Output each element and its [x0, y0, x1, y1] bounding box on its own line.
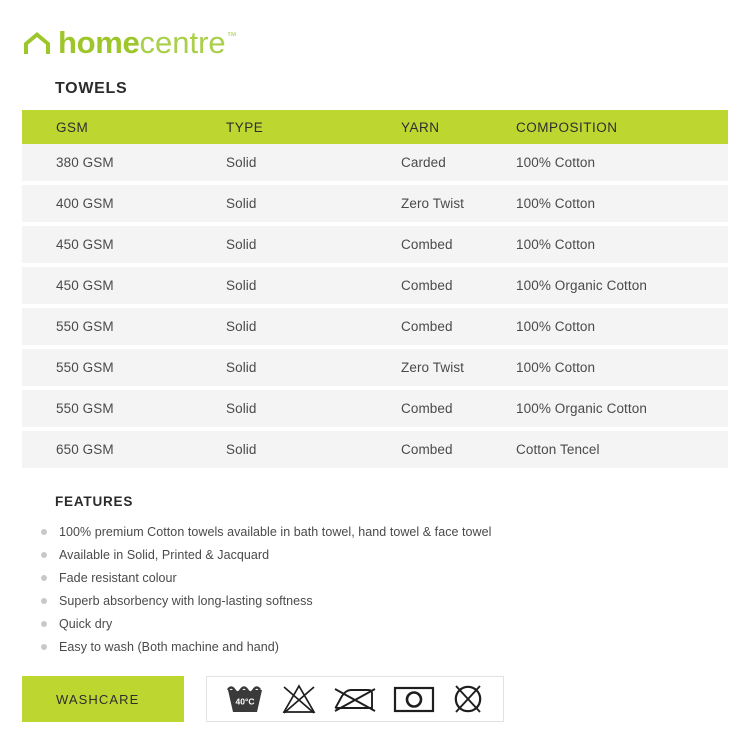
- feature-text: Superb absorbency with long-lasting soft…: [59, 594, 313, 608]
- cell-yarn: Combed: [401, 278, 516, 293]
- logo-trademark: ™: [227, 32, 237, 42]
- table-row: 380 GSM Solid Carded 100% Cotton: [22, 144, 728, 181]
- features-section: FEATURES 100% premium Cotton towels avai…: [55, 494, 675, 658]
- list-item: Fade resistant colour: [55, 566, 675, 589]
- feature-text: Quick dry: [59, 617, 112, 631]
- cell-composition: 100% Cotton: [516, 196, 728, 211]
- cell-type: Solid: [226, 442, 401, 457]
- cell-type: Solid: [226, 401, 401, 416]
- do-not-bleach-icon: [280, 683, 318, 715]
- list-item: Quick dry: [55, 612, 675, 635]
- cell-yarn: Combed: [401, 401, 516, 416]
- cell-gsm: 550 GSM: [56, 401, 226, 416]
- product-spec-page: home centre ™ TOWELS GSM TYPE YARN COMPO…: [0, 0, 750, 750]
- cell-composition: 100% Cotton: [516, 360, 728, 375]
- table-header-row: GSM TYPE YARN COMPOSITION: [22, 110, 728, 144]
- cell-type: Solid: [226, 278, 401, 293]
- bullet-icon: [41, 621, 47, 627]
- bullet-icon: [41, 529, 47, 535]
- table-row: 550 GSM Solid Zero Twist 100% Cotton: [22, 349, 728, 386]
- bullet-icon: [41, 552, 47, 558]
- cell-type: Solid: [226, 319, 401, 334]
- cell-type: Solid: [226, 196, 401, 211]
- table-row: 450 GSM Solid Combed 100% Cotton: [22, 226, 728, 263]
- cell-yarn: Combed: [401, 442, 516, 457]
- cell-gsm: 550 GSM: [56, 360, 226, 375]
- bullet-icon: [41, 644, 47, 650]
- cell-composition: 100% Cotton: [516, 237, 728, 252]
- towel-spec-table: GSM TYPE YARN COMPOSITION 380 GSM Solid …: [22, 110, 728, 472]
- washcare-icon-group: 40°C: [206, 676, 504, 722]
- column-header-yarn: YARN: [401, 120, 516, 135]
- cell-gsm: 450 GSM: [56, 278, 226, 293]
- cell-yarn: Zero Twist: [401, 196, 516, 211]
- cell-gsm: 650 GSM: [56, 442, 226, 457]
- do-not-iron-icon: [332, 683, 378, 715]
- brand-logo[interactable]: home centre ™: [22, 18, 236, 58]
- house-roof-icon: [22, 31, 52, 55]
- do-not-dry-clean-icon: [450, 683, 486, 715]
- cell-gsm: 380 GSM: [56, 155, 226, 170]
- cell-composition: 100% Cotton: [516, 155, 728, 170]
- table-row: 550 GSM Solid Combed 100% Organic Cotton: [22, 390, 728, 427]
- feature-text: Available in Solid, Printed & Jacquard: [59, 548, 269, 562]
- cell-gsm: 400 GSM: [56, 196, 226, 211]
- table-row: 650 GSM Solid Combed Cotton Tencel: [22, 431, 728, 468]
- bullet-icon: [41, 598, 47, 604]
- cell-composition: 100% Cotton: [516, 319, 728, 334]
- washcare-section: WASHCARE 40°C: [22, 676, 504, 722]
- washcare-label: WASHCARE: [22, 676, 184, 722]
- cell-composition: 100% Organic Cotton: [516, 278, 728, 293]
- feature-text: Fade resistant colour: [59, 571, 177, 585]
- table-row: 550 GSM Solid Combed 100% Cotton: [22, 308, 728, 345]
- page-title: TOWELS: [55, 80, 127, 98]
- table-row: 450 GSM Solid Combed 100% Organic Cotton: [22, 267, 728, 304]
- machine-wash-40c-icon: 40°C: [224, 683, 266, 715]
- cell-type: Solid: [226, 155, 401, 170]
- column-header-type: TYPE: [226, 120, 401, 135]
- cell-gsm: 450 GSM: [56, 237, 226, 252]
- list-item: Available in Solid, Printed & Jacquard: [55, 543, 675, 566]
- cell-yarn: Combed: [401, 237, 516, 252]
- feature-text: Easy to wash (Both machine and hand): [59, 640, 279, 654]
- cell-composition: 100% Organic Cotton: [516, 401, 728, 416]
- column-header-gsm: GSM: [56, 120, 226, 135]
- logo-text-home: home: [58, 27, 139, 58]
- cell-type: Solid: [226, 360, 401, 375]
- cell-composition: Cotton Tencel: [516, 442, 728, 457]
- features-title: FEATURES: [55, 494, 675, 509]
- bullet-icon: [41, 575, 47, 581]
- cell-gsm: 550 GSM: [56, 319, 226, 334]
- list-item: Easy to wash (Both machine and hand): [55, 635, 675, 658]
- cell-yarn: Carded: [401, 155, 516, 170]
- cell-yarn: Combed: [401, 319, 516, 334]
- list-item: 100% premium Cotton towels available in …: [55, 520, 675, 543]
- tumble-dry-icon: [392, 683, 436, 715]
- cell-type: Solid: [226, 237, 401, 252]
- list-item: Superb absorbency with long-lasting soft…: [55, 589, 675, 612]
- logo-text-centre: centre: [139, 27, 225, 58]
- table-row: 400 GSM Solid Zero Twist 100% Cotton: [22, 185, 728, 222]
- column-header-composition: COMPOSITION: [516, 120, 728, 135]
- feature-text: 100% premium Cotton towels available in …: [59, 525, 491, 539]
- cell-yarn: Zero Twist: [401, 360, 516, 375]
- wash-temperature-text: 40°C: [236, 697, 255, 707]
